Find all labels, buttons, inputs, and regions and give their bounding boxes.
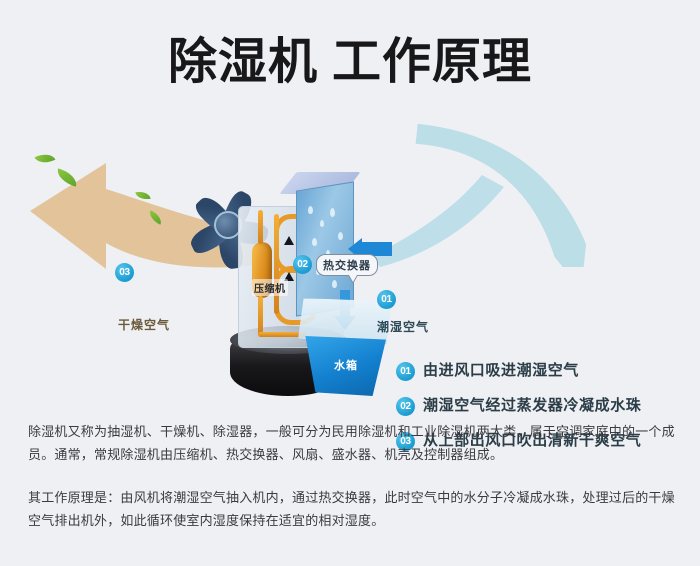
water-tank-label: 水箱 [334, 357, 358, 373]
infographic-page: 除湿机工作原理 [0, 0, 700, 566]
diagram-stage: 水箱 压缩机 03 干燥空气 02 热交换器 01 潮湿空气 01 由进风口吸进… [0, 105, 700, 405]
dehumidifier-unit: 水箱 压缩机 [222, 150, 412, 410]
paragraph-1: 除湿机又称为抽湿机、干燥机、除湿器，一般可分为民用除湿机和工业除湿机两大类，属于… [28, 420, 678, 466]
legend-text-01: 由进风口吸进潮湿空气 [423, 360, 579, 382]
paragraph-2: 其工作原理是：由风机将潮湿空气抽入机内，通过热交换器，此时空气中的水分子冷凝成水… [28, 486, 678, 532]
legend-badge-01: 01 [396, 362, 415, 381]
callout-badge-01: 01 [377, 290, 396, 309]
callout-badge-02: 02 [293, 255, 312, 274]
legend-text-02: 潮湿空气经过蒸发器冷凝成水珠 [423, 395, 641, 417]
title-main: 除湿机 [168, 35, 318, 89]
callout-label-dry-air: 干燥空气 [118, 316, 170, 333]
callout-badge-03: 03 [115, 263, 134, 282]
page-title: 除湿机工作原理 [0, 32, 700, 92]
callout-label-heat-exchanger: 热交换器 [316, 254, 378, 276]
legend-item: 01 由进风口吸进潮湿空气 [396, 360, 686, 395]
title-sub: 工作原理 [332, 35, 532, 89]
callout-label-humid-air: 潮湿空气 [377, 318, 429, 335]
body-copy: 除湿机又称为抽湿机、干燥机、除湿器，一般可分为民用除湿机和工业除湿机两大类，属于… [28, 420, 678, 552]
humid-air-band [370, 117, 700, 267]
callout-bubble-tail [348, 275, 358, 284]
compressor-label: 压缩机 [252, 279, 288, 296]
legend-badge-02: 02 [396, 397, 415, 416]
